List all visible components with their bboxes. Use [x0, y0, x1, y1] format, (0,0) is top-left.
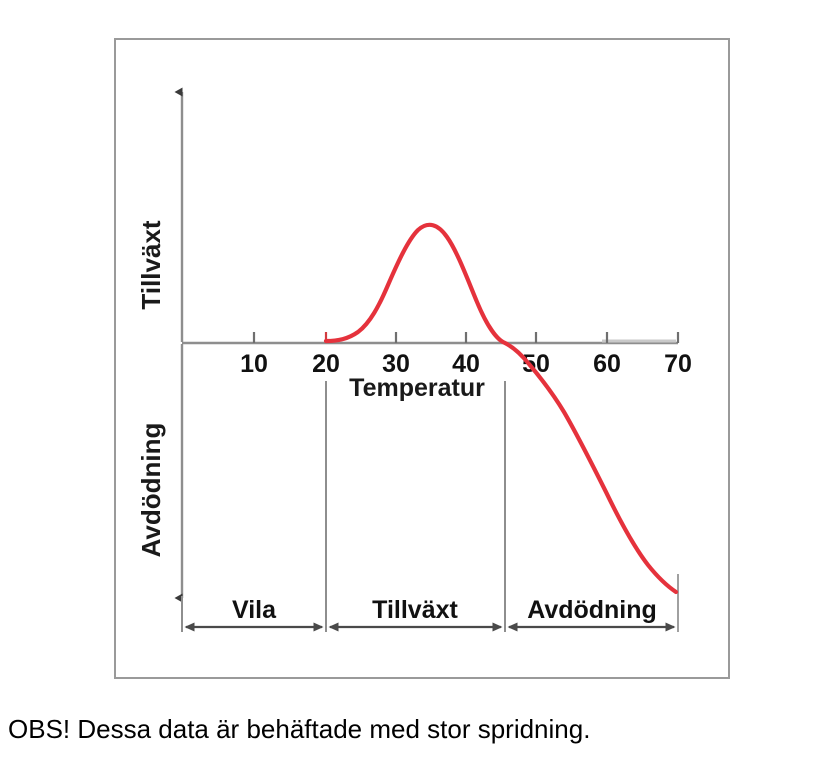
chart-canvas: Tillväxt Avdödning 10 20 30 40 50 60 70	[116, 40, 728, 677]
band-label-tillvaxt: Tillväxt	[372, 596, 458, 624]
x-axis-label: Temperatur	[349, 374, 485, 402]
band-labels: Vila Tillväxt Avdödning	[232, 596, 657, 624]
growth-death-curve	[326, 225, 676, 592]
x-tick-label-70: 70	[664, 350, 692, 378]
y-axis-upper-label: Tillväxt	[136, 220, 166, 309]
x-axis	[182, 341, 678, 343]
band-label-avdodning: Avdödning	[527, 596, 657, 624]
band-label-vila: Vila	[232, 596, 277, 624]
x-tick-label-60: 60	[593, 350, 621, 378]
figure-panel: Tillväxt Avdödning 10 20 30 40 50 60 70	[114, 38, 730, 679]
x-tick-label-20: 20	[312, 350, 340, 378]
figure-caption: OBS! Dessa data är behäftade med stor sp…	[8, 714, 808, 745]
band-dividers	[182, 381, 678, 632]
x-tick-label-10: 10	[240, 350, 268, 378]
y-axis-lower-label: Avdödning	[136, 423, 166, 558]
